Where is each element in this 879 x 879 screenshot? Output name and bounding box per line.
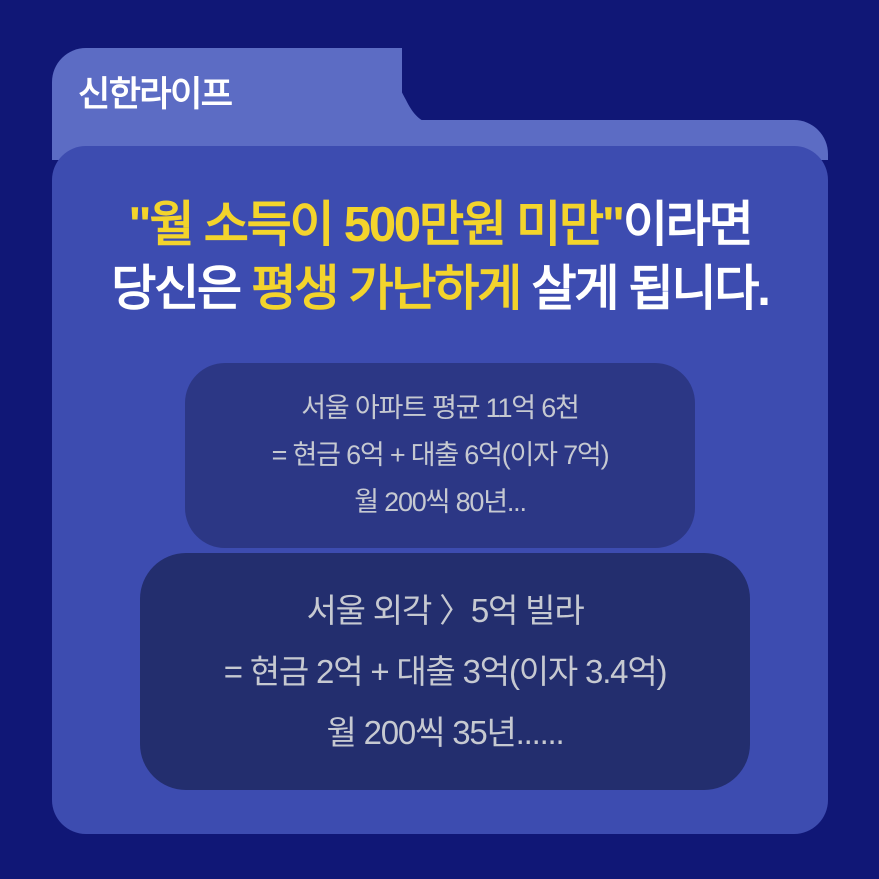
cost-card-villa-row: = 현금 2억 + 대출 3억(이자 3.4억) xyxy=(224,641,667,702)
headline-line-1: "월 소득이 500만원 미만"이라면 xyxy=(52,194,828,258)
headline-line2-tail: 살게 됩니다. xyxy=(520,262,769,316)
cost-card-villa-row: 월 200씩 35년...... xyxy=(327,702,564,763)
cost-card-villa: 서울 외각 〉5억 빌라 = 현금 2억 + 대출 3억(이자 3.4억) 월 … xyxy=(140,553,750,790)
cost-card-apartment-row: 월 200씩 80년... xyxy=(354,479,526,526)
cost-card-apartment-row: = 현금 6억 + 대출 6억(이자 7억) xyxy=(272,432,609,479)
headline-quote: "월 소득이 500만원 미만" xyxy=(128,198,623,252)
page-title: "월 소득이 500만원 미만"이라면 당신은 평생 가난하게 살게 됩니다. xyxy=(52,194,828,321)
headline-line2-lead: 당신은 xyxy=(111,262,251,316)
cost-card-apartment-row: 서울 아파트 평균 11억 6천 xyxy=(301,385,578,432)
cost-card-apartment: 서울 아파트 평균 11억 6천 = 현금 6억 + 대출 6억(이자 7억) … xyxy=(185,363,695,548)
headline-line1-tail: 이라면 xyxy=(623,198,752,252)
folder-tab-slope-icon xyxy=(338,48,458,128)
brand-logo: 신한라이프 xyxy=(78,77,232,112)
headline-emphasis: 평생 가난하게 xyxy=(251,262,520,316)
card-news-slide: 신한라이프 "월 소득이 500만원 미만"이라면 당신은 평생 가난하게 살게… xyxy=(0,0,879,879)
cost-card-villa-row: 서울 외각 〉5억 빌라 xyxy=(307,580,584,641)
headline-line-2: 당신은 평생 가난하게 살게 됩니다. xyxy=(52,258,828,322)
